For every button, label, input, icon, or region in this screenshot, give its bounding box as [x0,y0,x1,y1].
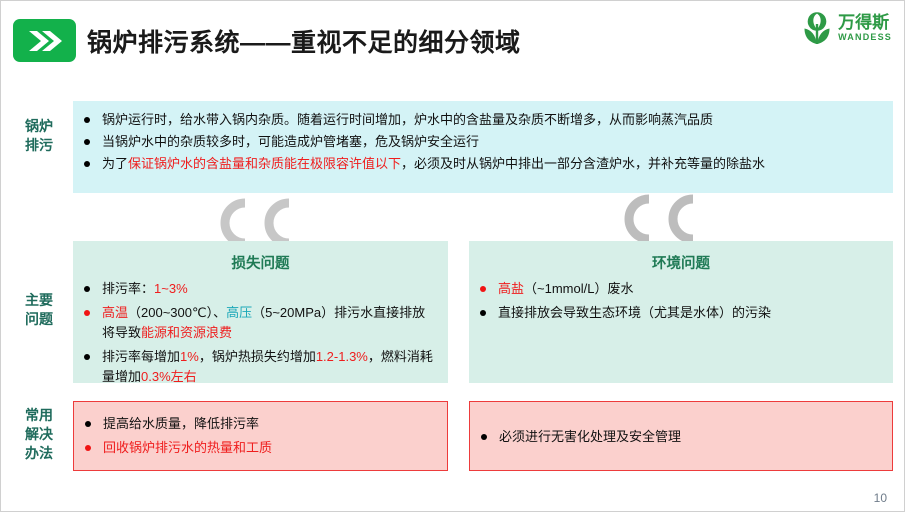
list-item: 排污率：1~3% [77,279,434,299]
list-item: 提高给水质量，降低排污率 [78,414,437,434]
bullet-dot-icon [85,421,91,427]
list-item: 直接排放会导致生态环境（尤其是水体）的污染 [473,303,879,323]
bullet-text: 当锅炉水中的杂质较多时，可能造成炉管堵塞，危及锅炉安全运行 [102,134,479,149]
bullet-text: 排污率每增加 [102,349,180,364]
content-box-blowdown: 锅炉运行时，给水带入锅内杂质。随着运行时间增加，炉水中的含盐量及杂质不断增多，从… [73,101,893,193]
box-title: 损失问题 [73,252,448,273]
content-box-solutions-right: 必须进行无害化处理及安全管理 [469,401,893,471]
logo-name-cn: 万得斯 [838,14,892,31]
bullet-list: 锅炉运行时，给水带入锅内杂质。随着运行时间增加，炉水中的含盐量及杂质不断增多，从… [73,101,893,173]
bullet-text: 直接排放会导致生态环境（尤其是水体）的污染 [498,305,771,320]
bullet-dot-icon [480,310,486,316]
bullet-dot-icon [84,161,90,167]
row-label-line: 问题 [9,310,69,329]
logo-text: 万得斯 WANDESS [838,14,892,42]
row-label-line: 排污 [9,136,69,155]
bullet-list: 排污率：1~3% 高温（200~300℃）、高压（5~20MPa）排污水直接排放… [73,279,448,387]
bullet-text: ，必须及时从锅炉中排出一部分含渣炉水，并补充等量的除盐水 [401,156,765,171]
list-item: 回收锅炉排污水的热量和工质 [78,438,437,458]
list-item: 锅炉运行时，给水带入锅内杂质。随着运行时间增加，炉水中的含盐量及杂质不断增多，从… [77,110,881,129]
box-title: 环境问题 [469,252,893,273]
list-item: 当锅炉水中的杂质较多时，可能造成炉管堵塞，危及锅炉安全运行 [77,132,881,151]
bullet-list: 提高给水质量，降低排污率 回收锅炉排污水的热量和工质 [74,402,447,458]
bullet-text-highlight: 高盐 [498,281,524,296]
row-label-line: 办法 [9,444,69,463]
company-logo: 万得斯 WANDESS [801,11,892,45]
content-box-loss-issues: 损失问题 排污率：1~3% 高温（200~300℃）、高压（5~20MPa）排污… [73,241,448,383]
row-label-line: 锅炉 [9,117,69,136]
bullet-text: 提高给水质量，降低排污率 [103,416,259,431]
content-box-solutions-left: 提高给水质量，降低排污率 回收锅炉排污水的热量和工质 [73,401,448,471]
bullet-text: 必须进行无害化处理及安全管理 [499,429,681,444]
bullet-text: 锅炉运行时，给水带入锅内杂质。随着运行时间增加，炉水中的含盐量及杂质不断增多，从… [102,112,713,127]
bullet-dot-icon [84,117,90,123]
bullet-text-highlight: 高压 [226,305,252,320]
bullet-dot-icon [84,286,90,292]
bullet-dot-icon [84,310,90,316]
list-item: 高盐（~1mmol/L）废水 [473,279,879,299]
bullet-list: 高盐（~1mmol/L）废水 直接排放会导致生态环境（尤其是水体）的污染 [469,279,893,323]
wandess-plant-logo-icon [801,11,833,45]
logo-name-en: WANDESS [838,33,892,42]
bullet-dot-icon [481,434,487,440]
bullet-text-highlight: 0.3%左右 [141,369,197,384]
double-chevron-right-icon [13,19,76,62]
bullet-text: 为了 [102,156,128,171]
bullet-text-highlight: 1% [180,349,199,364]
row-label-common-solutions: 常用 解决 办法 [9,406,69,463]
bullet-text-highlight: 保证锅炉水的含盐量和杂质能在极限容许值以下 [128,156,401,171]
bullet-text: （~1mmol/L）废水 [524,281,633,296]
slide-canvas: 锅炉排污系统——重视不足的细分领域 万得斯 WANDESS [0,0,905,512]
row-label-blowdown: 锅炉 排污 [9,117,69,155]
row-label-line: 主要 [9,291,69,310]
list-item: 为了保证锅炉水的含盐量和杂质能在极限容许值以下，必须及时从锅炉中排出一部分含渣炉… [77,154,881,173]
list-item: 排污率每增加1%，锅炉热损失约增加1.2-1.3%，燃料消耗量增加0.3%左右 [77,347,434,387]
bullet-text-highlight: 1.2-1.3% [316,349,368,364]
bullet-text-highlight: 高温 [102,305,128,320]
list-item: 高温（200~300℃）、高压（5~20MPa）排污水直接排放将导致能源和资源浪… [77,303,434,343]
bullet-list: 必须进行无害化处理及安全管理 [470,402,892,447]
page-title: 锅炉排污系统——重视不足的细分领域 [87,23,521,59]
row-label-line: 常用 [9,406,69,425]
row-label-main-issues: 主要 问题 [9,291,69,329]
bullet-dot-icon [84,139,90,145]
list-item: 必须进行无害化处理及安全管理 [474,427,882,447]
slide-header: 锅炉排污系统——重视不足的细分领域 万得斯 WANDESS [1,1,905,81]
bullet-text-highlight: 1~3% [154,281,188,296]
bullet-dot-icon [85,445,91,451]
bullet-dot-icon [480,286,486,292]
bullet-text: ，锅炉热损失约增加 [199,349,316,364]
page-number: 10 [874,491,887,505]
content-box-environment-issues: 环境问题 高盐（~1mmol/L）废水 直接排放会导致生态环境（尤其是水体）的污… [469,241,893,383]
bullet-dot-icon [84,354,90,360]
bullet-text: （200~300℃）、 [128,305,226,320]
row-label-line: 解决 [9,425,69,444]
bullet-text-highlight: 回收锅炉排污水的热量和工质 [103,440,272,455]
bullet-text-highlight: 能源和资源浪费 [141,325,232,340]
bullet-text: 排污率： [102,281,154,296]
